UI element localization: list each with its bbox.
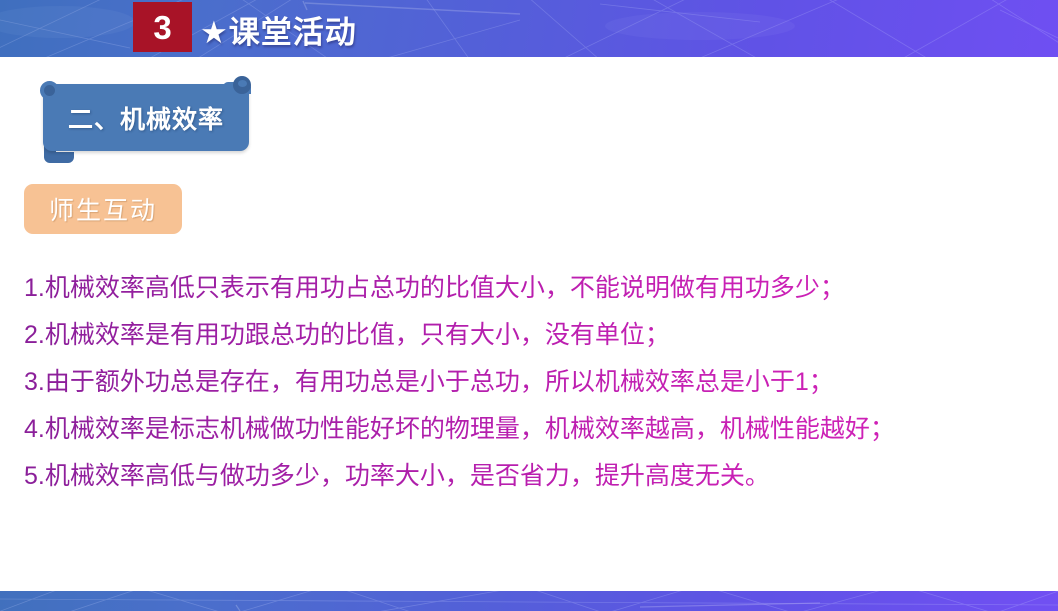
header-bar: 3 ★课堂活动 [0, 0, 1058, 57]
content-line: 3.由于额外功总是存在，有用功总是小于总功，所以机械效率总是小于1； [24, 359, 1034, 406]
section-title-text: 二、机械效率 [68, 100, 224, 136]
scroll-left-foot-decoration [44, 152, 74, 163]
content-line: 4.机械效率是标志机械做功性能好坏的物理量，机械效率越高，机械性能越好； [24, 406, 1034, 453]
section-title-scroll: 二、机械效率 [23, 74, 258, 160]
page-title: ★课堂活动 [200, 7, 357, 52]
footer-polygon-texture-decoration [0, 591, 1058, 611]
scroll-left-curl-icon [40, 81, 59, 100]
content-list: 1.机械效率高低只表示有用功占总功的比值大小，不能说明做有用功多少； 2.机械效… [24, 265, 1034, 500]
content-line: 1.机械效率高低只表示有用功占总功的比值大小，不能说明做有用功多少； [24, 265, 1034, 312]
lesson-number-badge: 3 [133, 2, 192, 52]
content-line: 2.机械效率是有用功跟总功的比值，只有大小，没有单位； [24, 312, 1034, 359]
interaction-label-badge: 师生互动 [24, 184, 182, 234]
interaction-label-text: 师生互动 [49, 191, 157, 227]
scroll-right-curl-inner-decoration [238, 80, 247, 87]
content-line: 5.机械效率高低与做功多少，功率大小，是否省力，提升高度无关。 [24, 453, 1034, 500]
footer-bar [0, 591, 1058, 611]
scroll-plaque-body: 二、机械效率 [43, 84, 249, 151]
